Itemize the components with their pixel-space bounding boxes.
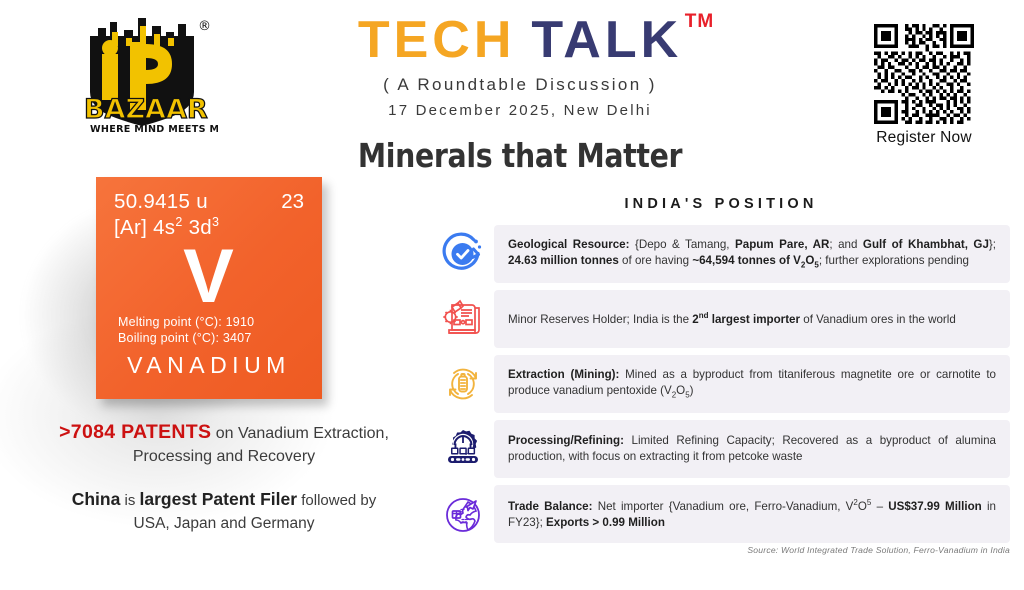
source-note: Source: World Integrated Trade Solution,…	[432, 545, 1010, 555]
filer-is: is	[120, 492, 139, 509]
event-title: TECHTALK TM	[358, 14, 682, 66]
battery-recycle-icon	[432, 355, 494, 413]
title-talk: TALK	[531, 11, 682, 69]
filer-rank: largest Patent Filer	[140, 489, 298, 509]
boiling-point: Boiling point (°C): 3407	[118, 331, 251, 345]
registered-mark-glyph: ®	[198, 19, 211, 34]
row-text: Trade Balance: Net importer {Vanadium or…	[508, 497, 996, 532]
atomic-number: 23	[281, 190, 304, 214]
qr-code-icon[interactable]	[872, 24, 976, 124]
vanadium-element-card: 50.9415 u [Ar] 4s2 3d3 23 V Melting poin…	[96, 177, 322, 399]
event-date-location: 17 December 2025, New Delhi	[300, 102, 740, 119]
econf-sup2: 3	[212, 215, 219, 229]
melting-point: Melting point (°C): 1910	[118, 315, 254, 329]
event-subtitle: ( A Roundtable Discussion )	[300, 75, 740, 95]
position-row-processing[interactable]: Processing/Refining: Limited Refining Ca…	[432, 420, 1010, 478]
econf-sup1: 2	[175, 215, 182, 229]
check-circle-refresh-icon	[432, 225, 494, 283]
atomic-mass: 50.9415 u	[114, 190, 208, 214]
factory-conveyor-gear-icon	[432, 420, 494, 478]
globe-plane-parcel-icon	[432, 485, 494, 543]
blueprint-document-icon	[432, 290, 494, 348]
position-row-extraction[interactable]: Extraction (Mining): Mined as a byproduc…	[432, 355, 1010, 413]
ip-bazaar-logo[interactable]: ® BAZAAR WHERE MIND MEETS MARKET	[68, 14, 218, 139]
row-text-cell: Geological Resource: {Depo & Tamang, Pap…	[494, 225, 1010, 283]
event-header: TECHTALK TM ( A Roundtable Discussion ) …	[300, 14, 740, 119]
poster-canvas: ® BAZAAR WHERE MIND MEETS MARKET TECHTAL…	[0, 0, 1024, 576]
position-row-trade-balance[interactable]: Trade Balance: Net importer {Vanadium or…	[432, 485, 1010, 543]
patents-fact: >7084 PATENTS on Vanadium Extraction, Pr…	[28, 420, 420, 467]
left-facts-block: >7084 PATENTS on Vanadium Extraction, Pr…	[28, 420, 420, 534]
section-heading: INDIA'S POSITION	[432, 196, 1010, 212]
element-symbol: V	[96, 239, 322, 315]
position-row-geological-resource[interactable]: Geological Resource: {Depo & Tamang, Pap…	[432, 225, 1010, 283]
logo-wordmark: BAZAAR	[84, 94, 208, 125]
filer-line2: USA, Japan and Germany	[134, 515, 315, 532]
trademark-mark: TM	[685, 12, 714, 31]
page-title: Minerals that Matter	[331, 136, 709, 175]
india-position-panel: INDIA'S POSITION Geological Resource: {D…	[432, 196, 1010, 550]
row-text-cell: Extraction (Mining): Mined as a byproduc…	[494, 355, 1010, 413]
register-qr-block[interactable]: Register Now	[872, 24, 976, 147]
row-text: Geological Resource: {Depo & Tamang, Pap…	[508, 237, 996, 271]
register-now-label[interactable]: Register Now	[872, 129, 976, 147]
position-row-minor-reserves[interactable]: Minor Reserves Holder; India is the 2nd …	[432, 290, 1010, 348]
patents-rest: on Vanadium Extraction,	[211, 425, 389, 442]
title-tech: TECH	[358, 11, 516, 69]
row-text-cell: Trade Balance: Net importer {Vanadium or…	[494, 485, 1010, 543]
element-name: VANADIUM	[96, 352, 322, 379]
filer-post: followed by	[297, 492, 376, 509]
econf-prefix: [Ar] 4s	[114, 216, 175, 239]
row-text: Extraction (Mining): Mined as a byproduc…	[508, 367, 996, 401]
row-text: Minor Reserves Holder; India is the 2nd …	[508, 310, 956, 328]
logo-tagline: WHERE MIND MEETS MARKET	[90, 124, 218, 135]
filer-country: China	[72, 489, 121, 509]
patent-filer-fact: China is largest Patent Filer followed b…	[28, 488, 420, 534]
row-text: Processing/Refining: Limited Refining Ca…	[508, 433, 996, 466]
patents-line2: Processing and Recovery	[133, 448, 315, 465]
row-text-cell: Processing/Refining: Limited Refining Ca…	[494, 420, 1010, 478]
patents-count: >7084 PATENTS	[59, 421, 211, 443]
row-text-cell: Minor Reserves Holder; India is the 2nd …	[494, 290, 1010, 348]
position-rows: Geological Resource: {Depo & Tamang, Pap…	[432, 225, 1010, 543]
